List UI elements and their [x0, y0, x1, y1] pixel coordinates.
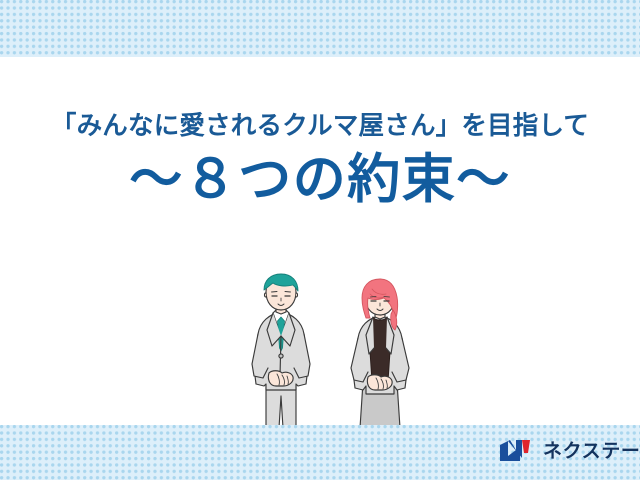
- female-eyebrow-left: [371, 297, 377, 298]
- male-eyebrow-right: [285, 292, 291, 293]
- male-eyebrow-left: [272, 292, 278, 293]
- female-clasped-hands: [367, 375, 392, 390]
- male-jacket-button: [279, 354, 283, 358]
- nextage-n-mark-icon: [498, 438, 536, 464]
- female-eyebrow-right: [384, 297, 390, 298]
- male-ear-left: [265, 293, 267, 297]
- promotional-banner: 「みんなに愛されるクルマ屋さん」を目指して ～８つの約束～: [0, 0, 640, 480]
- female-staff-figure: [351, 279, 409, 428]
- male-clasped-hands: [268, 371, 293, 386]
- nextage-logo: ネクステージ: [498, 438, 640, 464]
- two-bowing-staff-illustration: [236, 272, 426, 430]
- male-staff-figure: [252, 274, 310, 428]
- male-ear-right: [296, 293, 298, 297]
- nextage-wordmark: ネクステージ: [543, 442, 640, 461]
- headline-title: ～８つの約束～: [0, 152, 640, 208]
- logo-mark-red-stroke: [522, 440, 530, 453]
- top-dotted-band: [0, 0, 640, 57]
- headline-subtitle: 「みんなに愛されるクルマ屋さん」を目指して: [0, 112, 640, 140]
- headline-block: 「みんなに愛されるクルマ屋さん」を目指して ～８つの約束～: [0, 112, 640, 208]
- staff-illustration-svg: [236, 272, 426, 430]
